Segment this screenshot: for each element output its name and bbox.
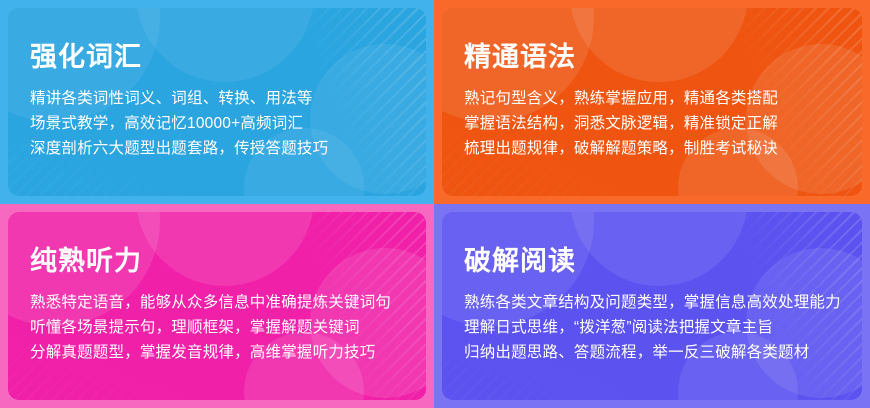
card-content: 强化词汇 精讲各类词性词义、词组、转换、用法等 场景式教学，高效记忆10000+… bbox=[30, 8, 416, 196]
feature-card-vocabulary[interactable]: 强化词汇 精讲各类词性词义、词组、转换、用法等 场景式教学，高效记忆10000+… bbox=[0, 0, 434, 204]
card-title: 精通语法 bbox=[464, 43, 852, 73]
list-item: 听懂各场景提示句，理顺框架，掌握解题关键词 bbox=[30, 315, 416, 340]
list-item: 精讲各类词性词义、词组、转换、用法等 bbox=[30, 86, 416, 111]
list-item: 深度剖析六大题型出题套路，传授答题技巧 bbox=[30, 136, 416, 161]
list-item: 场景式教学，高效记忆10000+高频词汇 bbox=[30, 111, 416, 136]
card-inner-panel: 纯熟听力 熟悉特定语音，能够从众多信息中准确提炼关键词句 听懂各场景提示句，理顺… bbox=[8, 212, 426, 400]
list-item: 熟记句型含义，熟练掌握应用，精通各类搭配 bbox=[464, 86, 852, 111]
card-content: 精通语法 熟记句型含义，熟练掌握应用，精通各类搭配 掌握语法结构，洞悉文脉逻辑，… bbox=[464, 8, 852, 196]
list-item: 熟练各类文章结构及问题类型，掌握信息高效处理能力 bbox=[464, 290, 852, 315]
card-feature-list: 精讲各类词性词义、词组、转换、用法等 场景式教学，高效记忆10000+高频词汇 … bbox=[30, 86, 416, 161]
card-feature-list: 熟练各类文章结构及问题类型，掌握信息高效处理能力 理解日式思维，“拨洋葱”阅读法… bbox=[464, 290, 852, 365]
feature-card-grid: 强化词汇 精讲各类词性词义、词组、转换、用法等 场景式教学，高效记忆10000+… bbox=[0, 0, 870, 408]
card-inner-panel: 强化词汇 精讲各类词性词义、词组、转换、用法等 场景式教学，高效记忆10000+… bbox=[8, 8, 426, 196]
card-title: 纯熟听力 bbox=[30, 247, 416, 277]
list-item: 归纳出题思路、答题流程，举一反三破解各类题材 bbox=[464, 340, 852, 365]
card-inner-panel: 破解阅读 熟练各类文章结构及问题类型，掌握信息高效处理能力 理解日式思维，“拨洋… bbox=[442, 212, 862, 400]
feature-card-grammar[interactable]: 精通语法 熟记句型含义，熟练掌握应用，精通各类搭配 掌握语法结构，洞悉文脉逻辑，… bbox=[434, 0, 870, 204]
card-title: 破解阅读 bbox=[464, 247, 852, 277]
card-inner-panel: 精通语法 熟记句型含义，熟练掌握应用，精通各类搭配 掌握语法结构，洞悉文脉逻辑，… bbox=[442, 8, 862, 196]
list-item: 分解真题题型，掌握发音规律，高维掌握听力技巧 bbox=[30, 340, 416, 365]
list-item: 掌握语法结构，洞悉文脉逻辑，精准锁定正解 bbox=[464, 111, 852, 136]
feature-card-reading[interactable]: 破解阅读 熟练各类文章结构及问题类型，掌握信息高效处理能力 理解日式思维，“拨洋… bbox=[434, 204, 870, 408]
card-content: 纯熟听力 熟悉特定语音，能够从众多信息中准确提炼关键词句 听懂各场景提示句，理顺… bbox=[30, 212, 416, 400]
list-item: 梳理出题规律，破解解题策略，制胜考试秘诀 bbox=[464, 136, 852, 161]
card-feature-list: 熟悉特定语音，能够从众多信息中准确提炼关键词句 听懂各场景提示句，理顺框架，掌握… bbox=[30, 290, 416, 365]
card-title: 强化词汇 bbox=[30, 43, 416, 73]
card-feature-list: 熟记句型含义，熟练掌握应用，精通各类搭配 掌握语法结构，洞悉文脉逻辑，精准锁定正… bbox=[464, 86, 852, 161]
feature-card-listening[interactable]: 纯熟听力 熟悉特定语音，能够从众多信息中准确提炼关键词句 听懂各场景提示句，理顺… bbox=[0, 204, 434, 408]
card-content: 破解阅读 熟练各类文章结构及问题类型，掌握信息高效处理能力 理解日式思维，“拨洋… bbox=[464, 212, 852, 400]
list-item: 理解日式思维，“拨洋葱”阅读法把握文章主旨 bbox=[464, 315, 852, 340]
list-item: 熟悉特定语音，能够从众多信息中准确提炼关键词句 bbox=[30, 290, 416, 315]
